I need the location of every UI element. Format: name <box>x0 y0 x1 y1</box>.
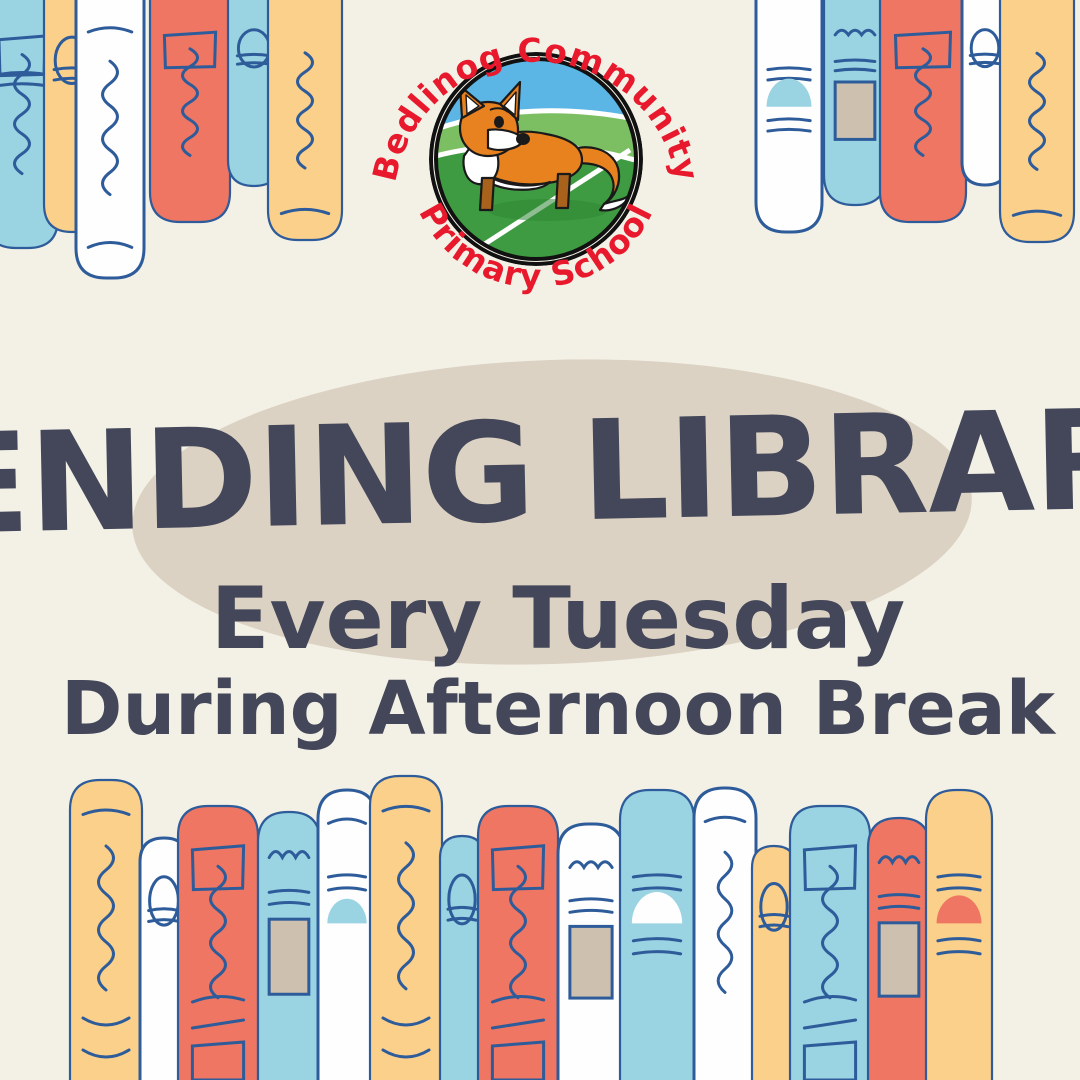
school-logo: Bedlinog Community Primary School <box>368 2 704 314</box>
fox-leg-back <box>556 174 570 208</box>
book-cover <box>70 780 142 1080</box>
book-spine <box>258 812 320 1080</box>
book-spine <box>370 776 442 1080</box>
book-cover <box>694 788 756 1080</box>
book-cover <box>620 790 694 1080</box>
poster-canvas: Bedlinog Community Primary School LENDIN… <box>0 0 1080 1080</box>
logo-ground-shadow <box>488 199 608 221</box>
fox-leg-front <box>480 178 494 210</box>
fox-eye <box>494 116 504 128</box>
book-cover <box>370 776 442 1080</box>
book-cover <box>318 790 376 1080</box>
book-spine <box>790 806 870 1080</box>
book-spine <box>620 790 694 1080</box>
book-spine <box>868 818 930 1080</box>
book-spine <box>558 824 624 1080</box>
book-spine <box>70 780 142 1080</box>
book-cover <box>926 790 992 1080</box>
book-spine <box>478 806 558 1080</box>
book-spine <box>178 806 258 1080</box>
book-spine <box>694 788 756 1080</box>
fox-nose <box>516 133 530 145</box>
book-spine <box>926 790 992 1080</box>
book-spine <box>318 790 376 1080</box>
